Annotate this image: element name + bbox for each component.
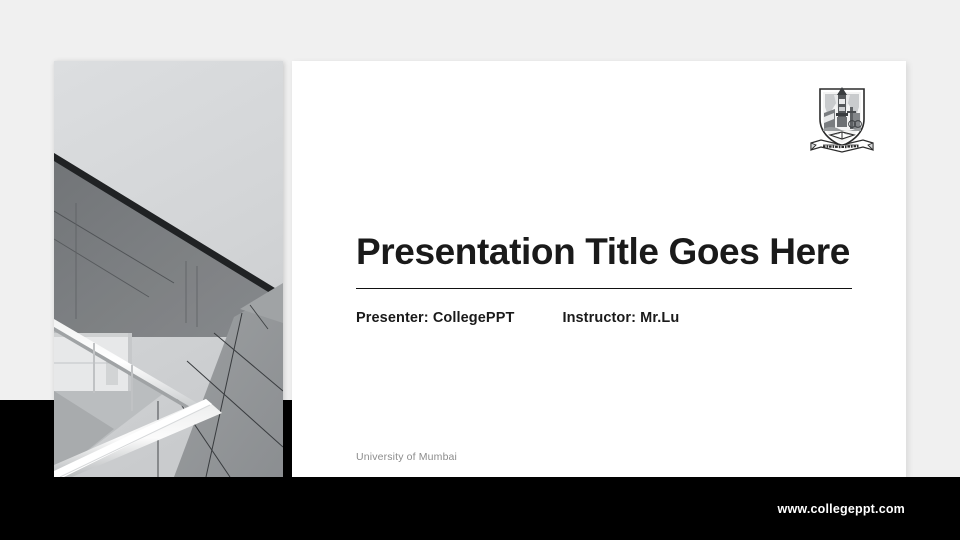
university-of-mumbai-crest-logo	[803, 83, 881, 165]
credit-presenter-label: Presenter:	[356, 310, 433, 326]
affiliation-text: University of Mumbai	[356, 451, 457, 463]
credit-instructor-value: Mr.Lu	[640, 310, 679, 326]
crest-icon	[803, 83, 881, 165]
credit-instructor-label: Instructor:	[562, 310, 640, 326]
page-title: Presentation Title Goes Here	[356, 230, 850, 274]
credit-presenter-value: CollegePPT	[433, 310, 515, 326]
credit-instructor: Instructor: Mr.Lu	[562, 310, 679, 326]
credits-row: Presenter: CollegePPT Instructor: Mr.Lu	[356, 310, 679, 326]
footer-url: www.collegeppt.com	[778, 502, 905, 516]
credit-presenter: Presenter: CollegePPT	[356, 310, 514, 326]
title-divider	[356, 288, 852, 289]
architecture-photo	[54, 61, 283, 477]
architecture-photo-graphic	[54, 61, 283, 477]
